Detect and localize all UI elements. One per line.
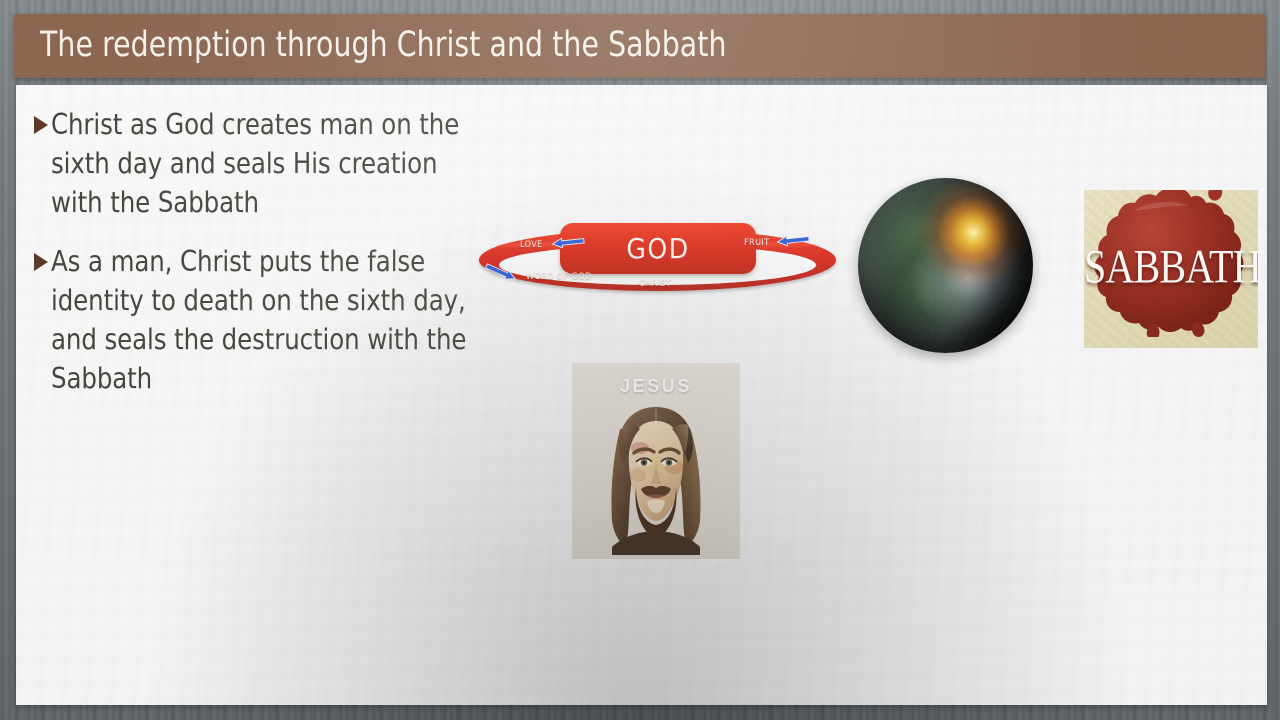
ring-label-fruit: FRUIT <box>744 238 770 248</box>
list-item: Christ as God creates man on the sixth d… <box>34 105 489 222</box>
bullet-text: As a man, Christ puts the false identity… <box>51 242 469 398</box>
god-center-bar: GOD <box>560 223 756 274</box>
globe-sphere <box>858 178 1033 353</box>
slide-content-panel: Christ as God creates man on the sixth d… <box>16 85 1267 705</box>
god-label: GOD <box>560 232 756 265</box>
god-ring-diagram: GOD LOVE FRUIT WORD OF GOD CHRIST <box>479 223 836 297</box>
jesus-label: JESUS <box>572 376 740 397</box>
sabbath-label: SABBATH <box>1084 239 1258 294</box>
jesus-portrait-image: JESUS <box>572 363 740 559</box>
triangle-bullet-icon <box>34 253 48 271</box>
slide-frame: The redemption through Christ and the Sa… <box>0 0 1280 720</box>
bullet-list: Christ as God creates man on the sixth d… <box>34 105 489 418</box>
ring-label-christ: CHRIST <box>639 279 671 289</box>
sabbath-blot-image: SABBATH <box>1084 190 1258 348</box>
ring-label-love: LOVE <box>520 240 543 250</box>
bullet-text: Christ as God creates man on the sixth d… <box>51 105 469 222</box>
page-title: The redemption through Christ and the Sa… <box>40 25 727 65</box>
ring-label-word-of-god: WORD OF GOD <box>526 272 592 282</box>
triangle-bullet-icon <box>34 116 48 134</box>
slide-title-bar: The redemption through Christ and the Sa… <box>14 14 1265 78</box>
jesus-face-illustration <box>586 395 726 555</box>
earth-globe-image <box>858 178 1033 353</box>
list-item: As a man, Christ puts the false identity… <box>34 242 489 398</box>
